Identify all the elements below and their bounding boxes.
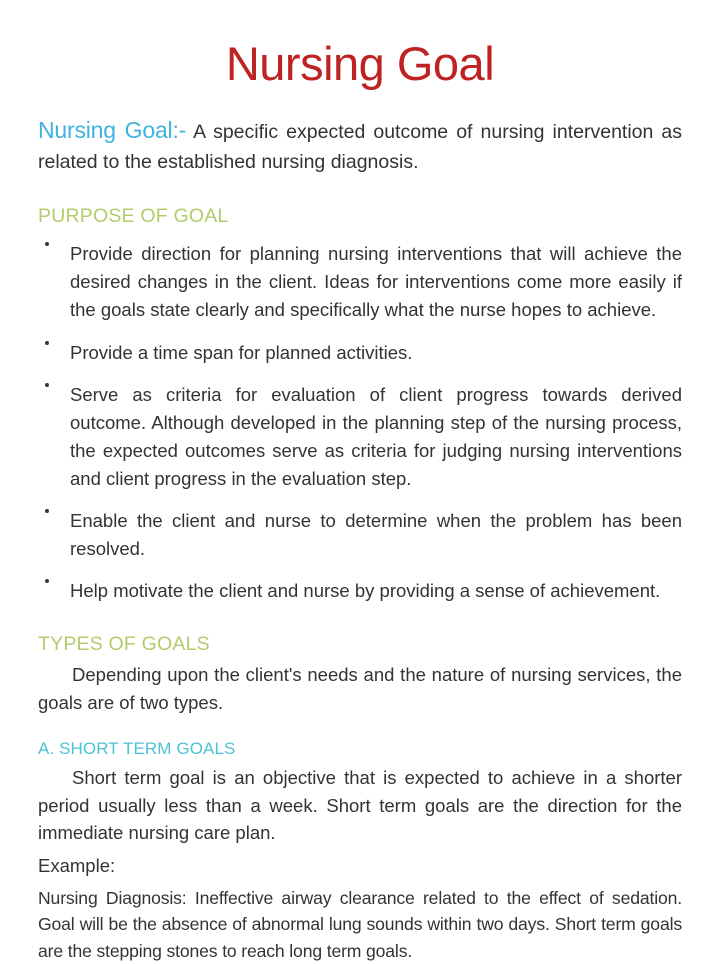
example-label: Example: bbox=[38, 852, 682, 880]
definition-paragraph: Nursing Goal:- A specific expected outco… bbox=[38, 113, 682, 178]
bullet-dot-icon bbox=[45, 509, 49, 513]
bullet-dot-icon bbox=[45, 242, 49, 246]
example-text: Nursing Diagnosis: Ineffective airway cl… bbox=[38, 885, 682, 964]
list-item-text: Provide direction for planning nursing i… bbox=[70, 243, 682, 320]
bullet-dot-icon bbox=[45, 579, 49, 583]
list-item-text: Enable the client and nurse to determine… bbox=[70, 510, 682, 559]
document-page: Nursing Goal Nursing Goal:- A specific e… bbox=[0, 0, 720, 931]
list-item-text: Provide a time span for planned activiti… bbox=[70, 342, 412, 363]
section-heading-purpose-of-goal: PURPOSE OF GOAL bbox=[38, 205, 682, 228]
subsection-heading-short-term-goals: A. SHORT TERM GOALS bbox=[38, 739, 682, 759]
list-item: Serve as criteria for evaluation of clie… bbox=[38, 381, 682, 493]
list-item: Enable the client and nurse to determine… bbox=[38, 507, 682, 563]
list-item: Help motivate the client and nurse by pr… bbox=[38, 577, 682, 605]
short-term-goals-paragraph: Short term goal is an objective that is … bbox=[38, 764, 682, 847]
bullet-dot-icon bbox=[45, 383, 49, 387]
section-heading-types-of-goals: TYPES OF GOALS bbox=[38, 633, 682, 656]
bullet-dot-icon bbox=[45, 341, 49, 345]
page-title: Nursing Goal bbox=[38, 0, 682, 91]
list-item: Provide a time span for planned activiti… bbox=[38, 339, 682, 367]
list-item-text: Serve as criteria for evaluation of clie… bbox=[70, 384, 682, 489]
purpose-bullet-list: Provide direction for planning nursing i… bbox=[38, 240, 682, 605]
types-intro-paragraph: Depending upon the client's needs and th… bbox=[38, 661, 682, 717]
definition-term: Nursing Goal:- bbox=[38, 117, 186, 143]
list-item: Provide direction for planning nursing i… bbox=[38, 240, 682, 324]
list-item-text: Help motivate the client and nurse by pr… bbox=[70, 580, 660, 601]
